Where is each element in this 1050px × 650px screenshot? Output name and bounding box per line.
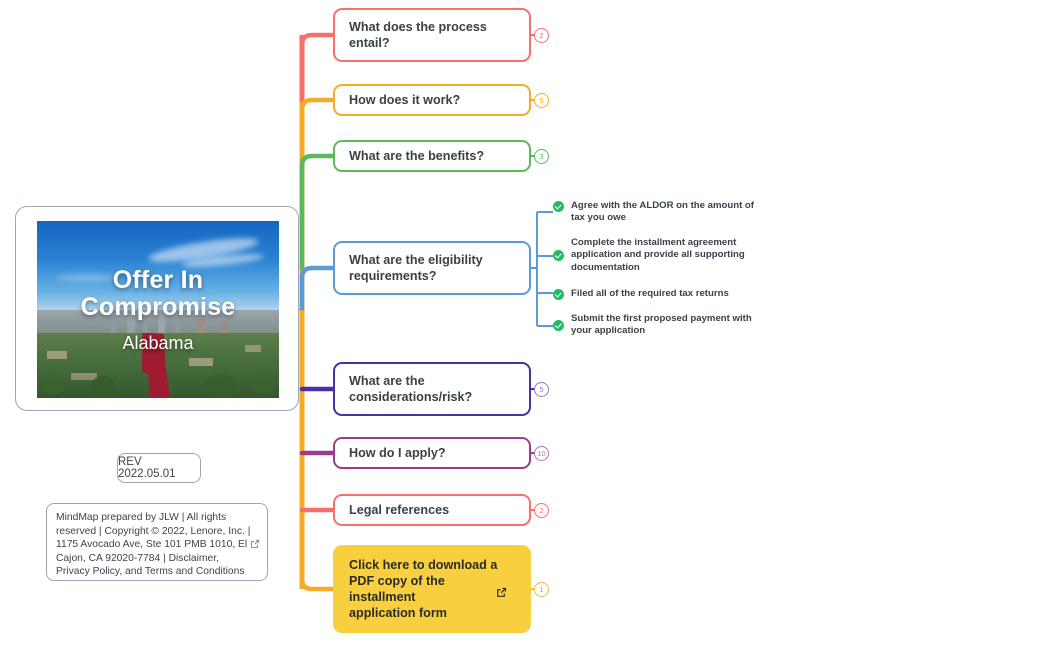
counter-value: 1: [539, 586, 543, 593]
list-item-label: Complete the installment agreement appli…: [571, 237, 745, 274]
counter-value: 2: [539, 507, 543, 514]
central-title-line1: Offer In: [113, 266, 204, 294]
counter-badge-benefits[interactable]: 3: [534, 149, 549, 164]
counter-badge-how-it-works[interactable]: 5: [534, 93, 549, 108]
counter-value: 5: [539, 97, 543, 104]
branch-label: How do I apply?: [335, 445, 460, 461]
list-item-label: Submit the first proposed payment with y…: [571, 313, 752, 338]
list-item[interactable]: Filed all of the required tax returns: [553, 288, 768, 300]
revision-box: REV 2022.05.01: [117, 453, 201, 483]
check-circle-icon: [553, 320, 564, 331]
external-link-icon[interactable]: [496, 585, 507, 603]
list-item-label: Filed all of the required tax returns: [571, 288, 729, 300]
counter-value: 3: [539, 153, 543, 160]
list-item[interactable]: Agree with the ALDOR on the amount of ta…: [553, 200, 768, 225]
list-item[interactable]: Submit the first proposed payment with y…: [553, 313, 768, 338]
external-link-icon[interactable]: [250, 536, 260, 554]
branch-node-eligibility[interactable]: What are the eligibility requirements?: [333, 241, 531, 295]
branch-node-benefits[interactable]: What are the benefits?: [333, 140, 531, 172]
check-circle-icon: [553, 201, 564, 212]
counter-badge-considerations[interactable]: 5: [534, 382, 549, 397]
check-circle-icon: [553, 250, 564, 261]
counter-badge-apply[interactable]: 10: [534, 446, 549, 461]
branch-label: Click here to download a PDF copy of the…: [335, 557, 511, 621]
check-circle-icon: [553, 289, 564, 300]
counter-badge-legal[interactable]: 2: [534, 503, 549, 518]
footer-text: MindMap prepared by JLW | All rights res…: [56, 511, 252, 579]
footer-box[interactable]: MindMap prepared by JLW | All rights res…: [46, 503, 268, 581]
branch-label: What does the process entail?: [335, 19, 501, 51]
counter-badge-process[interactable]: 2: [534, 28, 549, 43]
branch-label: How does it work?: [335, 92, 474, 108]
branch-label: What are the benefits?: [335, 148, 498, 164]
branch-label: What are the eligibility requirements?: [335, 252, 497, 284]
counter-value: 5: [539, 386, 543, 393]
mindmap-canvas: Offer InCompromise Alabama REV 2022.05.0…: [0, 0, 1050, 650]
branch-node-apply[interactable]: How do I apply?: [333, 437, 531, 469]
branch-label: Legal references: [335, 502, 463, 518]
central-node-subtitle: Alabama: [37, 333, 279, 354]
list-item-label: Agree with the ALDOR on the amount of ta…: [571, 200, 754, 225]
central-node-image: Offer InCompromise Alabama: [37, 221, 279, 398]
counter-value: 2: [539, 32, 543, 39]
revision-label: REV 2022.05.01: [118, 456, 200, 480]
branch-node-download-pdf[interactable]: Click here to download a PDF copy of the…: [333, 545, 531, 633]
branch-label: What are the considerations/risk?: [335, 373, 486, 405]
branch-node-process[interactable]: What does the process entail?: [333, 8, 531, 62]
central-node-title: Offer InCompromise: [37, 267, 279, 321]
list-item[interactable]: Complete the installment agreement appli…: [553, 237, 768, 274]
central-title-line2: Compromise: [81, 293, 236, 321]
central-node[interactable]: Offer InCompromise Alabama: [15, 206, 299, 411]
counter-badge-download-pdf[interactable]: 1: [534, 582, 549, 597]
counter-value: 10: [537, 450, 545, 457]
branch-node-considerations[interactable]: What are the considerations/risk?: [333, 362, 531, 416]
branch-node-how-it-works[interactable]: How does it work?: [333, 84, 531, 116]
branch-node-legal[interactable]: Legal references: [333, 494, 531, 526]
